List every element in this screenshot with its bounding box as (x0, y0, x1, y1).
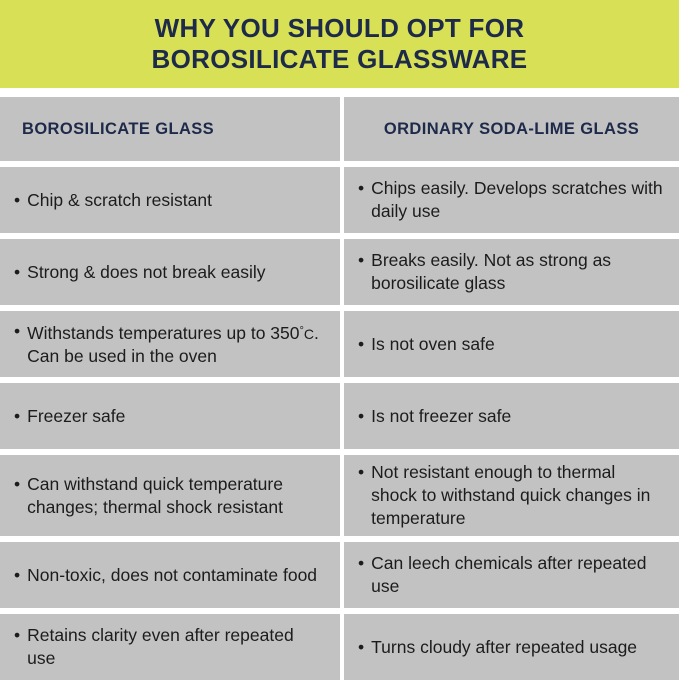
bullet-text: Chip & scratch resistant (27, 189, 212, 212)
bullet-item: • Retains clarity even after repeated us… (14, 624, 326, 670)
bullet-item: • Freezer safe (14, 405, 125, 428)
bullet-item: • Non-toxic, does not contaminate food (14, 564, 317, 587)
bullet-icon: • (358, 461, 364, 484)
bullet-icon: • (14, 189, 20, 212)
bullet-text: Is not freezer safe (371, 405, 511, 428)
cell-borosilicate: • Can withstand quick temperature change… (0, 455, 340, 536)
title-line-1: WHY YOU SHOULD OPT FOR (155, 13, 525, 44)
bullet-icon: • (14, 473, 20, 496)
bullet-item: • Is not oven safe (358, 333, 495, 356)
bullet-item: • Can withstand quick temperature change… (14, 473, 326, 519)
bullet-item: • Strong & does not break easily (14, 261, 265, 284)
cell-borosilicate: • Strong & does not break easily (0, 239, 340, 305)
bullet-icon: • (14, 405, 20, 428)
column-header-label-right: ORDINARY SODA-LIME GLASS (384, 120, 639, 139)
bullet-icon: • (358, 552, 364, 575)
cell-soda-lime: • Is not oven safe (344, 311, 679, 377)
bullet-item: • Withstands temperatures up to 350°C. C… (14, 320, 326, 369)
bullet-item: • Can leech chemicals after repeated use (358, 552, 665, 598)
bullet-icon: • (14, 624, 20, 647)
infographic-comparison-table: WHY YOU SHOULD OPT FOR BOROSILICATE GLAS… (0, 0, 679, 679)
table-row: • Retains clarity even after repeated us… (0, 614, 679, 680)
cell-borosilicate: • Retains clarity even after repeated us… (0, 614, 340, 680)
table-row: • Non-toxic, does not contaminate food •… (0, 542, 679, 608)
cell-borosilicate: • Withstands temperatures up to 350°C. C… (0, 311, 340, 377)
column-header-label-left: BOROSILICATE GLASS (22, 120, 214, 139)
title-banner: WHY YOU SHOULD OPT FOR BOROSILICATE GLAS… (0, 0, 679, 88)
cell-borosilicate: • Chip & scratch resistant (0, 167, 340, 233)
bullet-item: • Breaks easily. Not as strong as borosi… (358, 249, 665, 295)
bullet-icon: • (14, 320, 20, 343)
bullet-item: • Turns cloudy after repeated usage (358, 636, 637, 659)
bullet-text: Withstands temperatures up to 350°C. Can… (27, 320, 326, 369)
table-row: • Freezer safe • Is not freezer safe (0, 383, 679, 449)
table-header-row: BOROSILICATE GLASS ORDINARY SODA-LIME GL… (0, 97, 679, 161)
bullet-item: • Not resistant enough to thermal shock … (358, 461, 665, 530)
cell-soda-lime: • Is not freezer safe (344, 383, 679, 449)
bullet-text: Non-toxic, does not contaminate food (27, 564, 317, 587)
cell-soda-lime: • Turns cloudy after repeated usage (344, 614, 679, 680)
bullet-text: Not resistant enough to thermal shock to… (371, 461, 665, 530)
cell-soda-lime: • Can leech chemicals after repeated use (344, 542, 679, 608)
bullet-text: Chips easily. Develops scratches with da… (371, 177, 665, 223)
bullet-icon: • (358, 405, 364, 428)
bullet-text: Retains clarity even after repeated use (27, 624, 326, 670)
bullet-item: • Chip & scratch resistant (14, 189, 212, 212)
bullet-text: Can leech chemicals after repeated use (371, 552, 665, 598)
bullet-icon: • (358, 333, 364, 356)
comparison-table: BOROSILICATE GLASS ORDINARY SODA-LIME GL… (0, 88, 679, 680)
bullet-icon: • (358, 177, 364, 200)
bullet-text: Turns cloudy after repeated usage (371, 636, 637, 659)
table-row: • Chip & scratch resistant • Chips easil… (0, 167, 679, 233)
header-cell-soda-lime: ORDINARY SODA-LIME GLASS (344, 97, 679, 161)
cell-soda-lime: • Breaks easily. Not as strong as borosi… (344, 239, 679, 305)
bullet-text: Is not oven safe (371, 333, 495, 356)
bullet-text: Breaks easily. Not as strong as borosili… (371, 249, 665, 295)
bullet-text: Can withstand quick temperature changes;… (27, 473, 326, 519)
cell-soda-lime: • Not resistant enough to thermal shock … (344, 455, 679, 536)
table-row: • Strong & does not break easily • Break… (0, 239, 679, 305)
bullet-text: Freezer safe (27, 405, 125, 428)
bullet-icon: • (358, 636, 364, 659)
header-cell-borosilicate: BOROSILICATE GLASS (0, 97, 340, 161)
title-line-2: BOROSILICATE GLASSWARE (152, 44, 528, 75)
temperature-prefix: Withstands temperatures up to 350 (27, 322, 299, 342)
cell-borosilicate: • Non-toxic, does not contaminate food (0, 542, 340, 608)
bullet-icon: • (14, 564, 20, 587)
bullet-icon: • (14, 261, 20, 284)
temperature-unit: C (304, 325, 314, 341)
bullet-text: Strong & does not break easily (27, 261, 265, 284)
cell-soda-lime: • Chips easily. Develops scratches with … (344, 167, 679, 233)
bullet-item: • Is not freezer safe (358, 405, 511, 428)
cell-borosilicate: • Freezer safe (0, 383, 340, 449)
table-row: • Can withstand quick temperature change… (0, 455, 679, 536)
bullet-item: • Chips easily. Develops scratches with … (358, 177, 665, 223)
bullet-icon: • (358, 249, 364, 272)
table-row: • Withstands temperatures up to 350°C. C… (0, 311, 679, 377)
